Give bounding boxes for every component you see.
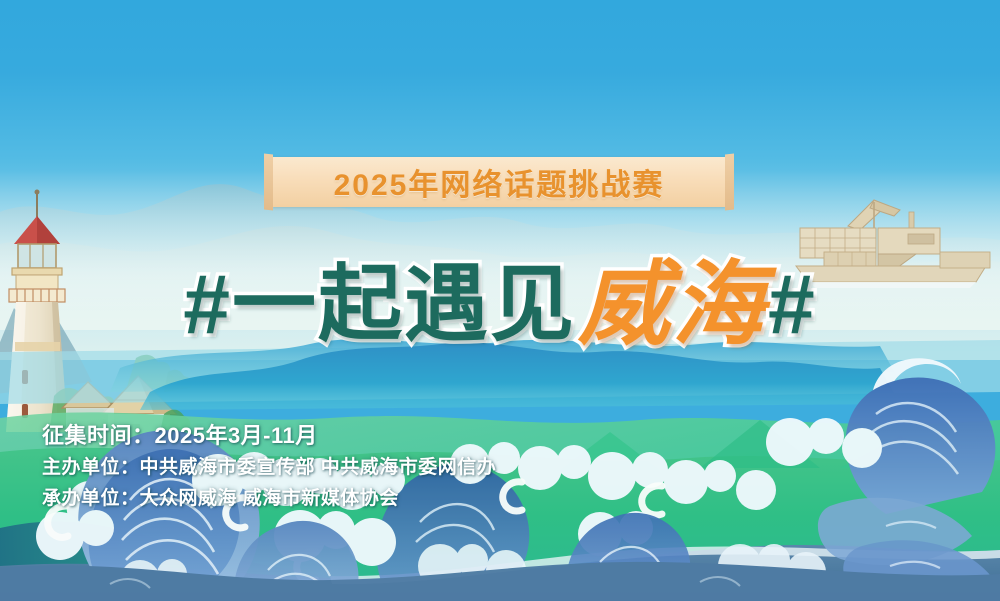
submission-period-line: 征集时间：2025年3月-11月 (42, 420, 682, 452)
poster-canvas: 2025年网络话题挑战赛 # 一起遇见 威海 # 征集时间：2025年3月-11… (0, 0, 1000, 601)
organizer-line: 主办单位：中共威海市委宣传部 中共威海市委网信办 (42, 452, 682, 483)
ribbon-title-text: 2025年网络话题挑战赛 (334, 160, 665, 204)
campaign-ribbon-banner: 2025年网络话题挑战赛 (272, 157, 726, 207)
footer-info-block: 征集时间：2025年3月-11月 主办单位：中共威海市委宣传部 中共威海市委网信… (42, 420, 682, 514)
co-organizer-line: 承办单位：大众网威海 威海市新媒体协会 (42, 483, 682, 514)
